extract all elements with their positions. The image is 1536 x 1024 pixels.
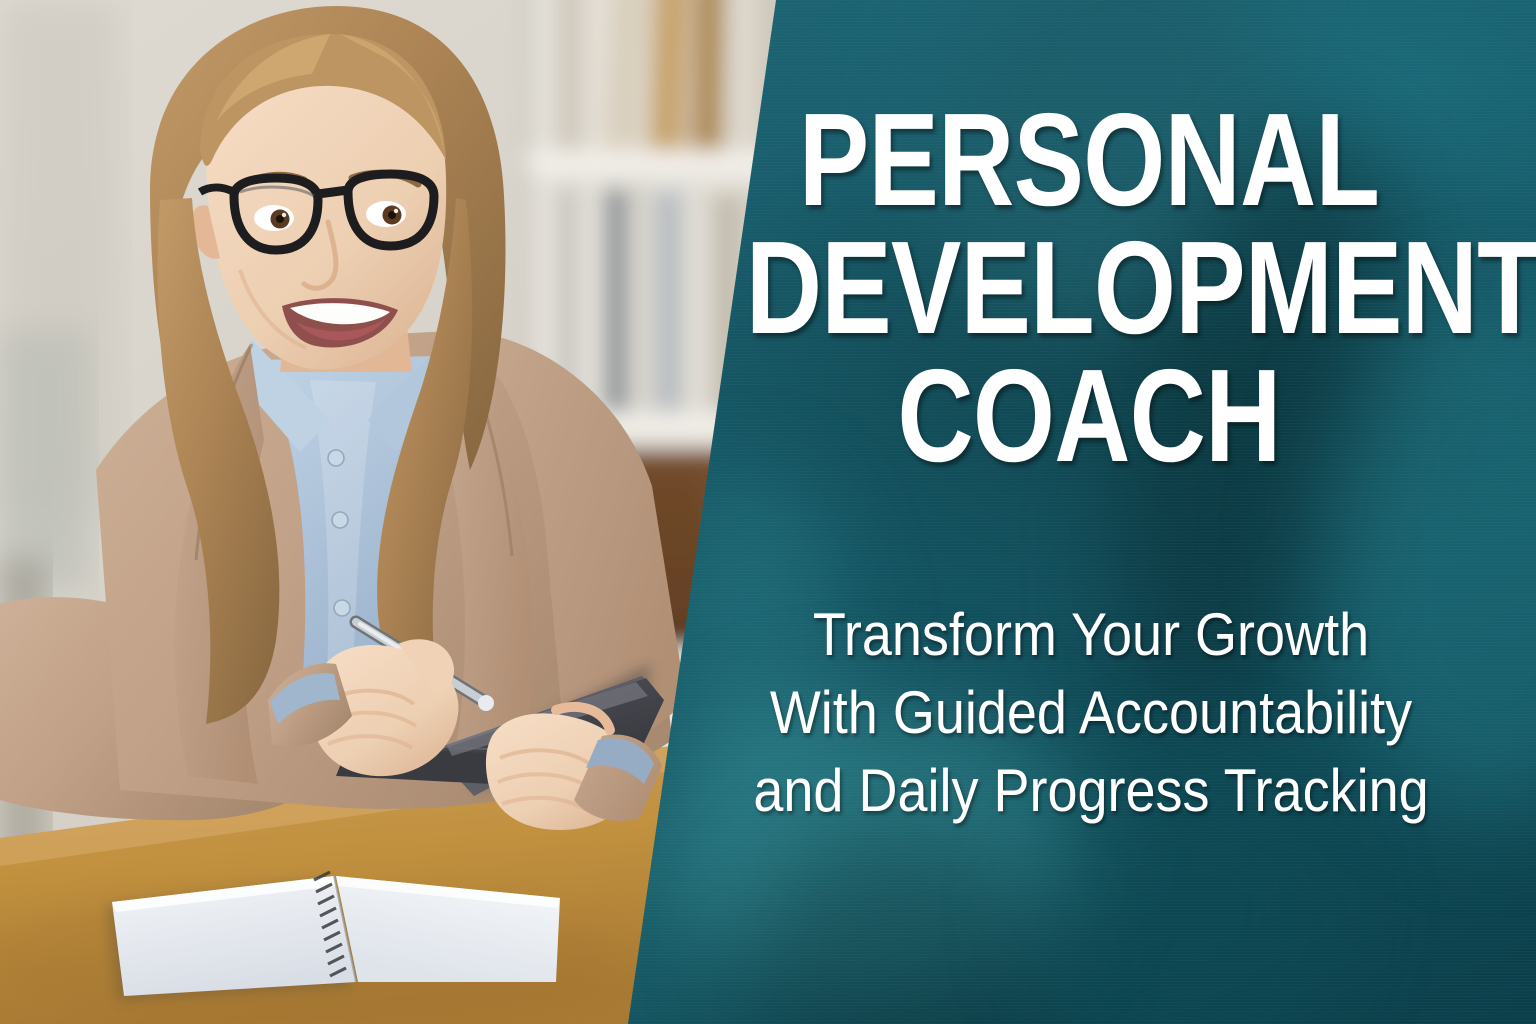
subtitle-line-2: With Guided Accountability xyxy=(703,674,1479,752)
headline-line-2: DEVELOPMENT xyxy=(746,224,1432,352)
page-title: PERSONAL DEVELOPMENT COACH xyxy=(660,96,1518,480)
subtitle-line-3: and Daily Progress Tracking xyxy=(703,752,1479,830)
banner-copy: PERSONAL DEVELOPMENT COACH Transform You… xyxy=(660,0,1536,1024)
headline-line-3: COACH xyxy=(746,352,1432,480)
banner-root: PERSONAL DEVELOPMENT COACH Transform You… xyxy=(0,0,1536,1024)
headline-line-1: PERSONAL xyxy=(746,96,1432,224)
subtitle: Transform Your Growth With Guided Accoun… xyxy=(660,596,1522,830)
subtitle-line-1: Transform Your Growth xyxy=(703,596,1479,674)
